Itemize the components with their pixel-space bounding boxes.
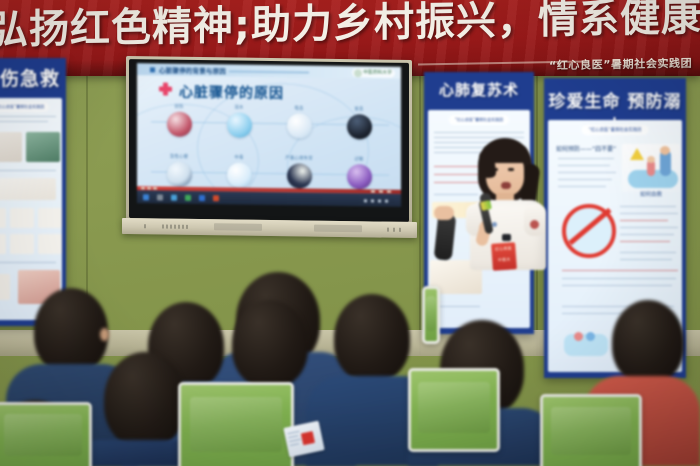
presenter: 红心良医 中医大 bbox=[462, 138, 550, 270]
slide-title: 心脏骤停的原因 bbox=[179, 82, 284, 103]
ppt-icon[interactable] bbox=[199, 195, 205, 201]
wristwatch bbox=[502, 234, 511, 241]
audience-head bbox=[612, 300, 684, 384]
chair[interactable] bbox=[408, 368, 500, 452]
slide-node: 创伤 bbox=[157, 103, 201, 136]
slide-node: 中毒 bbox=[217, 154, 261, 187]
browser-icon[interactable] bbox=[171, 194, 177, 200]
audience-head bbox=[104, 352, 186, 448]
shirt-logo-icon bbox=[530, 220, 539, 229]
audience-head bbox=[334, 294, 410, 382]
slide-node: 溺水 bbox=[217, 104, 261, 137]
rollup-center-title: 心肺复苏术 bbox=[424, 79, 534, 100]
slide-header-marker bbox=[150, 67, 155, 72]
shirt-logo-icon bbox=[492, 222, 497, 227]
projector-screen[interactable]: 心脏骤停的背景与原因 中医药科大学 心脏骤停的原因 创伤 溺水 电击 窒息 急性… bbox=[137, 63, 401, 207]
chair[interactable] bbox=[0, 402, 92, 466]
banner-title: 弘扬红色精神;助力乡村振兴，情系健康中国 bbox=[0, 0, 688, 57]
slide-node: 急性心梗 bbox=[157, 153, 201, 186]
chair[interactable] bbox=[178, 382, 294, 466]
banner-subtitle: “红心良医”暑期社会实践团 bbox=[549, 55, 692, 74]
lecture-hall-photo: 弘扬红色精神;助力乡村振兴，情系健康中国 “红心良医”暑期社会实践团 心脏骤停的… bbox=[0, 0, 700, 466]
slide-node: 过敏 bbox=[337, 156, 381, 189]
chair[interactable] bbox=[540, 394, 642, 466]
rollup-right-badge: “红心良医”暑期社会实践团 bbox=[582, 125, 649, 135]
university-logo-text: 中医药科大学 bbox=[352, 68, 395, 78]
rollup-banner-left: 伤急救 “红心良医”暑期社会实践团 bbox=[0, 58, 66, 326]
wall-seam bbox=[419, 55, 421, 355]
media-icon[interactable] bbox=[185, 194, 191, 200]
start-icon[interactable] bbox=[143, 194, 149, 200]
folder-icon[interactable] bbox=[157, 194, 163, 200]
medical-cross-icon bbox=[159, 82, 172, 95]
slide-node: 窒息 bbox=[337, 106, 381, 139]
network-icon[interactable] bbox=[364, 199, 368, 203]
audience-head bbox=[34, 288, 108, 374]
ppt-icon[interactable] bbox=[213, 195, 219, 201]
rollup-left-title: 伤急救 bbox=[0, 64, 66, 91]
slide-header-text: 心脏骤停的背景与原因 bbox=[159, 64, 226, 75]
presenter-hand bbox=[434, 206, 454, 220]
banner-rule bbox=[418, 61, 588, 66]
clock-icon[interactable] bbox=[385, 199, 389, 203]
rollup-left-badge: “红心良医”暑期社会实践团 bbox=[0, 102, 49, 112]
presenter-badge: 红心良医 中医大 bbox=[491, 242, 517, 271]
slide-node: 电击 bbox=[277, 105, 321, 138]
rollup-right-section1: 如何预防——“四不要” bbox=[556, 144, 616, 153]
cross-icon bbox=[301, 431, 315, 445]
battery-icon[interactable] bbox=[378, 199, 382, 203]
rollup-right-section2: 如何自救 bbox=[640, 190, 662, 198]
volume-icon[interactable] bbox=[371, 199, 375, 203]
slide-node: 严重心律失常 bbox=[277, 155, 321, 188]
rollup-center-badge: “红心良医”暑期社会实践团 bbox=[449, 115, 509, 125]
audience-head bbox=[232, 300, 308, 388]
chair[interactable] bbox=[422, 286, 440, 344]
ear bbox=[100, 328, 109, 341]
